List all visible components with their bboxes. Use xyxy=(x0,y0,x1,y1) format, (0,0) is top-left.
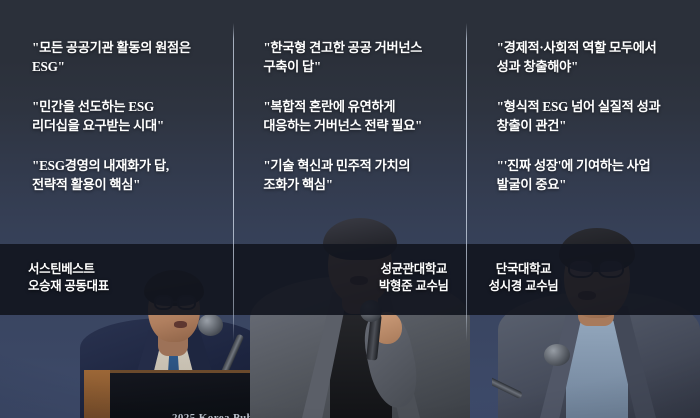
quote-text: "'진짜 성장'에 기여하는 사업 발굴이 중요" xyxy=(497,156,686,194)
quote-columns: "모든 공공기관 활동의 원점은 ESG" "민간을 선도하는 ESG 리더십을… xyxy=(0,0,700,244)
speaker-quote-card: 2025 Korea Publi xyxy=(0,0,700,418)
microphone-head xyxy=(544,344,570,366)
mouth xyxy=(174,321,187,328)
microphone-head xyxy=(198,314,223,336)
quote-text: "복합적 혼란에 유연하게 대응하는 거버넌스 전략 필요" xyxy=(263,97,452,135)
quote-text: "기술 혁신과 민주적 가치의 조화가 핵심" xyxy=(263,156,452,194)
speaker-name-band xyxy=(0,244,700,315)
quote-text: "경제적·사회적 역할 모두에서 성과 창출해야" xyxy=(497,38,686,76)
quote-text: "ESG경영의 내재화가 답, 전략적 활용이 핵심" xyxy=(32,156,219,194)
quote-text: "모든 공공기관 활동의 원점은 ESG" xyxy=(32,38,219,76)
quote-text: "민간을 선도하는 ESG 리더십을 요구받는 시대" xyxy=(32,97,219,135)
quote-text: "한국형 견고한 공공 거버넌스 구축이 답" xyxy=(263,38,452,76)
quote-column-right: "경제적·사회적 역할 모두에서 성과 창출해야" "형식적 ESG 넘어 실질… xyxy=(467,0,700,244)
podium-text: 2025 Korea Publi xyxy=(172,412,260,418)
quote-column-center: "한국형 견고한 공공 거버넌스 구축이 답" "복합적 혼란에 유연하게 대응… xyxy=(233,0,466,244)
quote-text: "형식적 ESG 넘어 실질적 성과 창출이 관건" xyxy=(497,97,686,135)
quote-column-left: "모든 공공기관 활동의 원점은 ESG" "민간을 선도하는 ESG 리더십을… xyxy=(0,0,233,244)
